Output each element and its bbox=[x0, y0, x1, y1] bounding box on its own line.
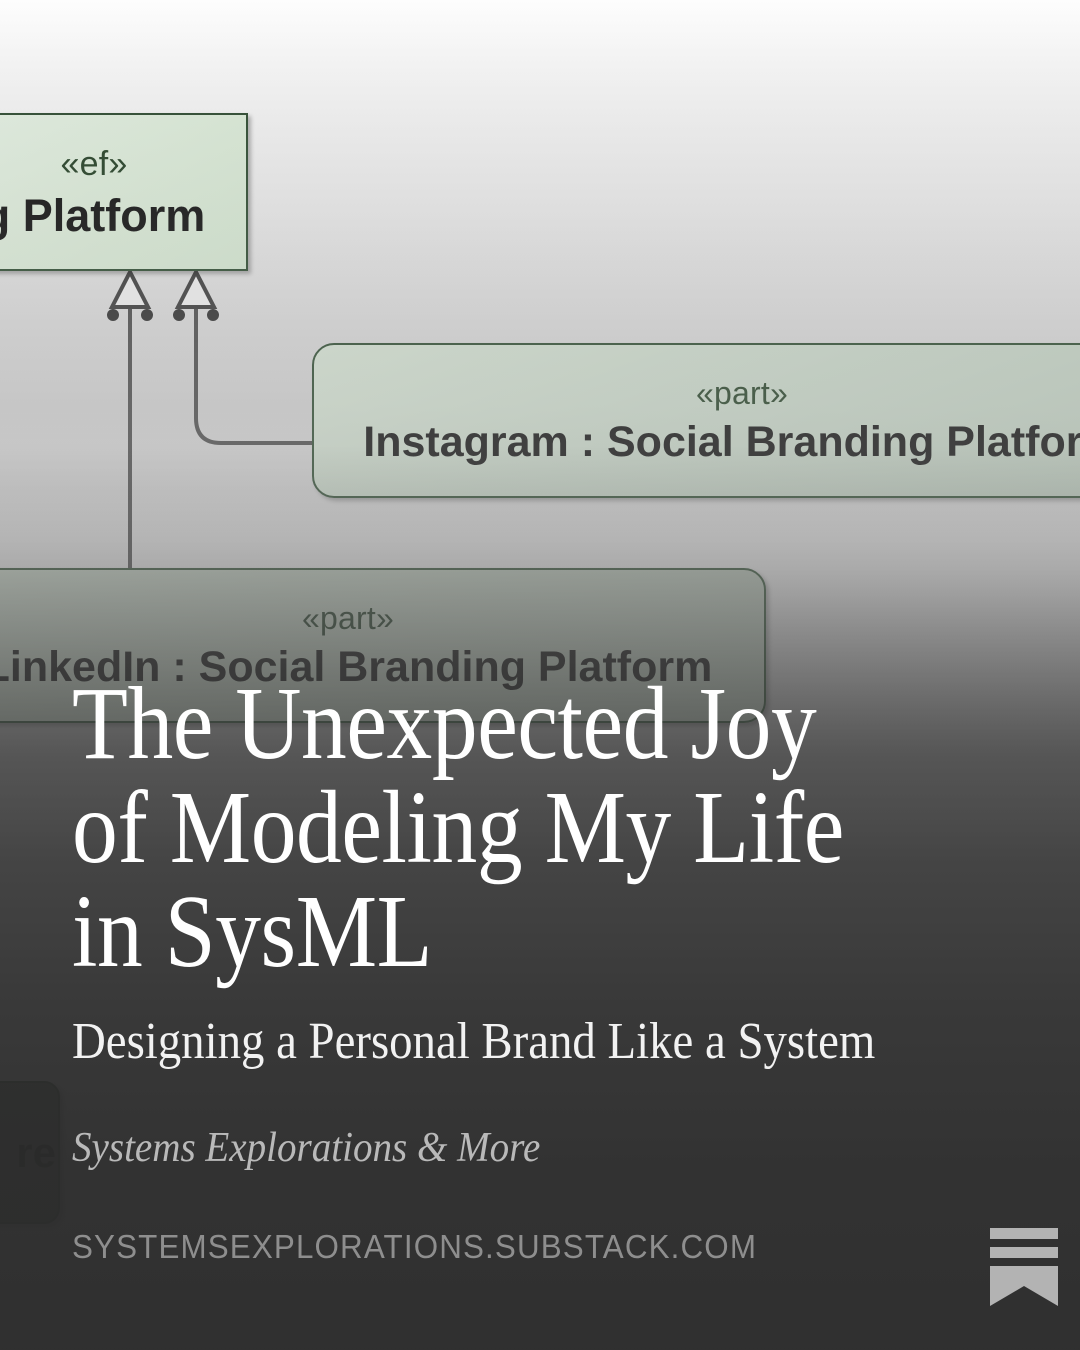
publication-name: Systems Explorations & More bbox=[72, 1124, 540, 1172]
node-name: re bbox=[16, 1129, 56, 1177]
publication-domain: SYSTEMSEXPLORATIONS.SUBSTACK.COM bbox=[72, 1228, 757, 1266]
substack-share-card: «ef» g Platform «part» Instagram : Socia… bbox=[0, 0, 1080, 1350]
card-content: The Unexpected Joy of Modeling My Life i… bbox=[72, 0, 1020, 1350]
page-subtitle: Designing a Personal Brand Like a System bbox=[72, 1012, 990, 1072]
diagram-node-partial: re bbox=[0, 1081, 60, 1224]
page-title: The Unexpected Joy of Modeling My Life i… bbox=[72, 672, 864, 984]
substack-logo-icon bbox=[990, 1228, 1058, 1306]
